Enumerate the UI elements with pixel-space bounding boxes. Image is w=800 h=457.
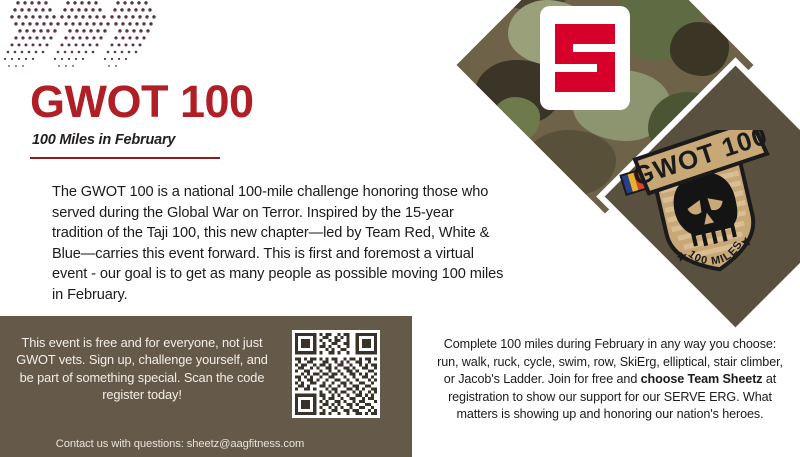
page-subtitle: 100 Miles in February: [32, 132, 360, 148]
brown-panel-message: This event is free and for everyone, not…: [16, 334, 268, 404]
headline-block: GWOT 100 100 Miles in February: [30, 78, 360, 159]
sheetz-logo-s-icon: [551, 18, 619, 98]
page-title: GWOT 100: [30, 78, 360, 126]
intro-paragraph: The GWOT 100 is a national 100-mile chal…: [52, 182, 507, 306]
flyer-canvas: GWOT 100 100 Miles in February The GWOT …: [0, 0, 800, 457]
title-divider: [30, 157, 220, 159]
chevron-dot-pattern: [0, 0, 200, 78]
qr-code-icon: [292, 330, 380, 418]
gwot-100-patch: 100 MILES GWOT 100: [618, 130, 784, 290]
contact-line: Contact us with questions: sheetz@aagfit…: [10, 438, 350, 450]
sheetz-logo-tile: [540, 6, 630, 110]
challenge-details-paragraph: Complete 100 miles during February in an…: [432, 336, 788, 424]
details-bold-text: choose Team Sheetz: [641, 372, 763, 386]
qr-code[interactable]: [292, 330, 380, 418]
